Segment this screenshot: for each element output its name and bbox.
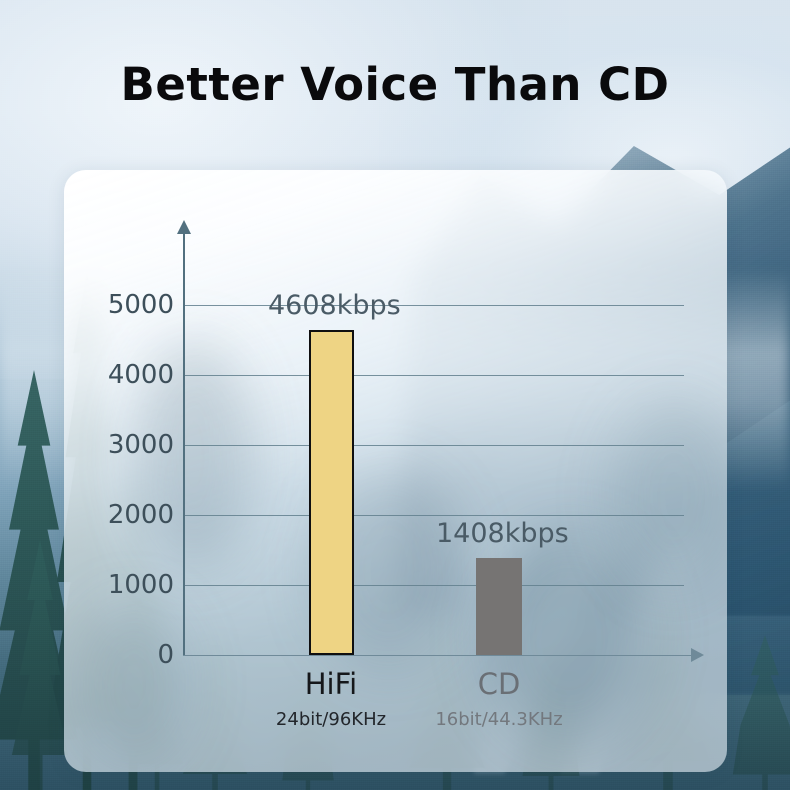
page-title: Better Voice Than CD: [0, 62, 790, 107]
gridline-3000: [184, 445, 684, 446]
bar-cd[interactable]: [476, 558, 522, 655]
x-category-sublabel-cd: 16bit/44.3KHz: [399, 711, 599, 729]
y-tick-label-2000: 2000: [78, 502, 174, 528]
y-tick-label-3000: 3000: [78, 432, 174, 458]
y-tick-label-5000: 5000: [78, 292, 174, 318]
bar-value-label-cd: 1408kbps: [436, 520, 569, 547]
y-tick-label-4000: 4000: [78, 362, 174, 388]
pine-tree: [730, 635, 790, 790]
gridline-4000: [184, 375, 684, 376]
y-axis-line: [183, 232, 185, 656]
gridline-5000: [184, 305, 684, 306]
y-tick-label-0: 0: [78, 642, 174, 668]
bar-value-label-hifi: 4608kbps: [268, 292, 401, 319]
gridline-2000: [184, 515, 684, 516]
y-axis-arrow-icon: [177, 220, 191, 234]
x-category-name-cd: CD: [399, 670, 599, 699]
x-axis-line: [183, 655, 693, 656]
bar-chart: 5000 4000 3000 2000 1000 0 4608kbps 1408…: [64, 170, 727, 772]
gridline-1000: [184, 585, 684, 586]
bar-hifi[interactable]: [309, 330, 354, 655]
infographic-root: Better Voice Than CD 5000 4000 3000 2000…: [0, 0, 790, 790]
y-tick-label-1000: 1000: [78, 572, 174, 598]
y-axis-tick-labels: 5000 4000 3000 2000 1000 0: [64, 170, 174, 772]
x-axis-arrow-icon: [691, 648, 704, 662]
x-category-cd: CD 16bit/44.3KHz: [399, 670, 599, 729]
